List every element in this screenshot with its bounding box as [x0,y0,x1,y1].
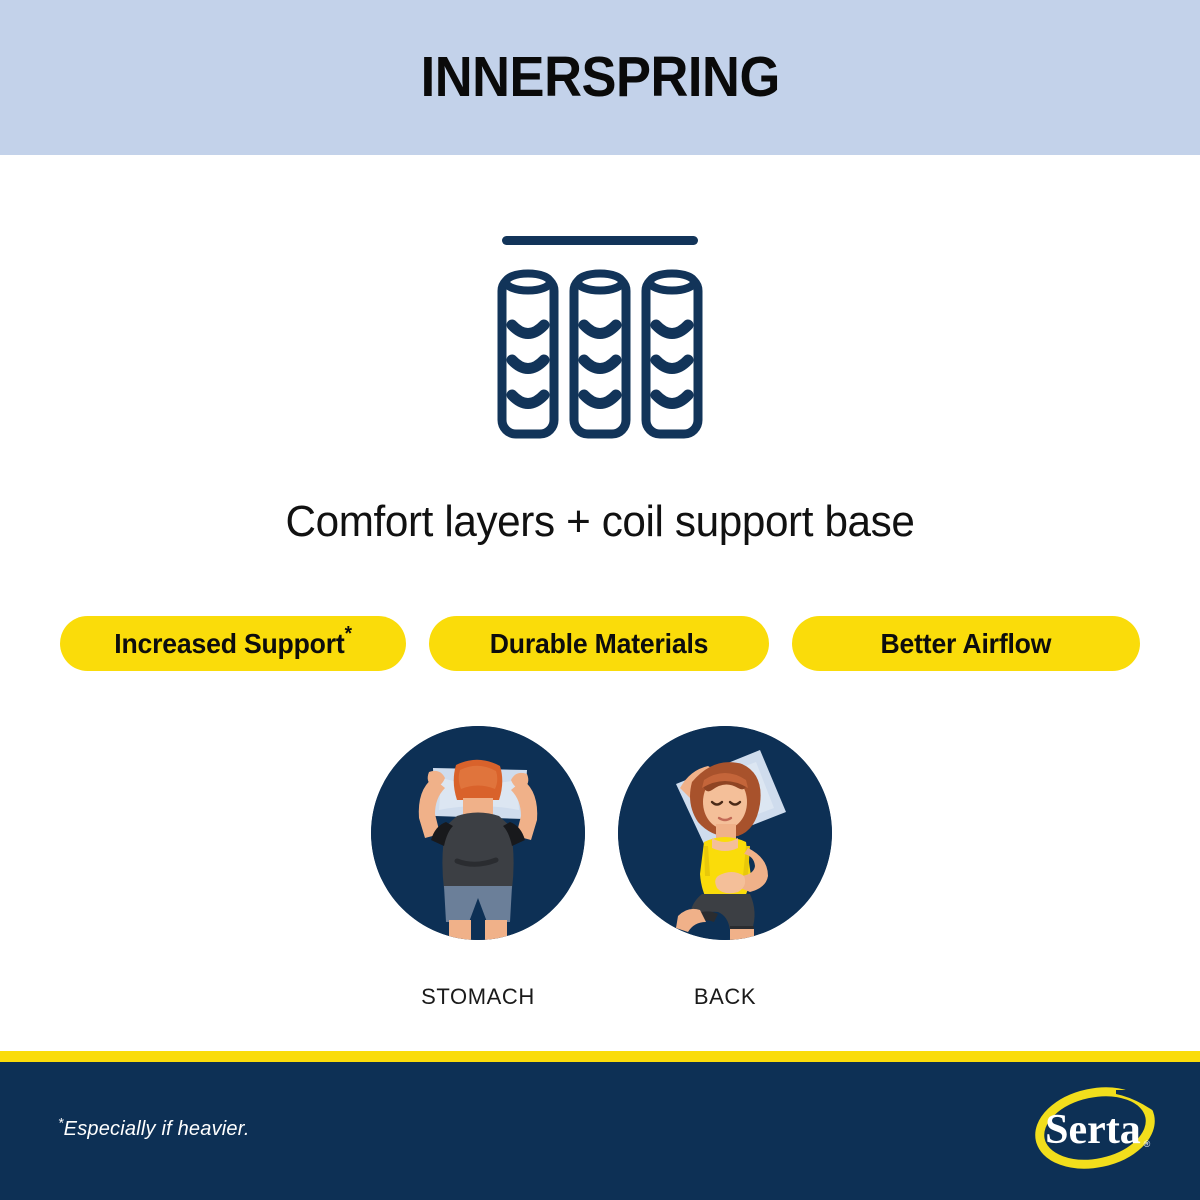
feature-pill-better-airflow[interactable]: Better Airflow [792,616,1140,671]
feature-pill-label: Increased Support [114,628,344,659]
sleep-position-label: STOMACH [368,984,588,1010]
header-band: INNERSPRING [0,0,1200,155]
sleep-positions: STOMACH [0,726,1200,1016]
feature-pill-label: Durable Materials [490,628,709,659]
sleep-position-stomach[interactable]: STOMACH [368,726,588,1010]
feature-pill-increased-support[interactable]: Increased Support* [60,616,406,671]
infographic-page: INNERSPRING [0,0,1200,1200]
registered-mark: ® [1144,1139,1151,1149]
stomach-sleeper-illustration [371,726,585,940]
footnote: *Especially if heavier. [58,1118,250,1141]
coil-springs-icon [495,232,705,440]
sleep-position-label: BACK [615,984,835,1010]
feature-pill-label: Better Airflow [881,628,1052,659]
serta-logo: Serta ® [1030,1084,1160,1176]
tagline: Comfort layers + coil support base [24,497,1176,547]
feature-pill-row: Increased Support* Durable Materials Bet… [60,616,1140,671]
asterisk-marker: * [345,623,352,645]
serta-wordmark: Serta [1045,1107,1141,1153]
page-title: INNERSPRING [420,49,779,106]
sleep-position-back[interactable]: BACK [615,726,835,1010]
feature-pill-durable-materials[interactable]: Durable Materials [429,616,769,671]
back-sleeper-illustration [618,726,832,940]
footnote-text: Especially if heavier. [64,1118,250,1140]
footer-accent-stripe [0,1051,1200,1062]
